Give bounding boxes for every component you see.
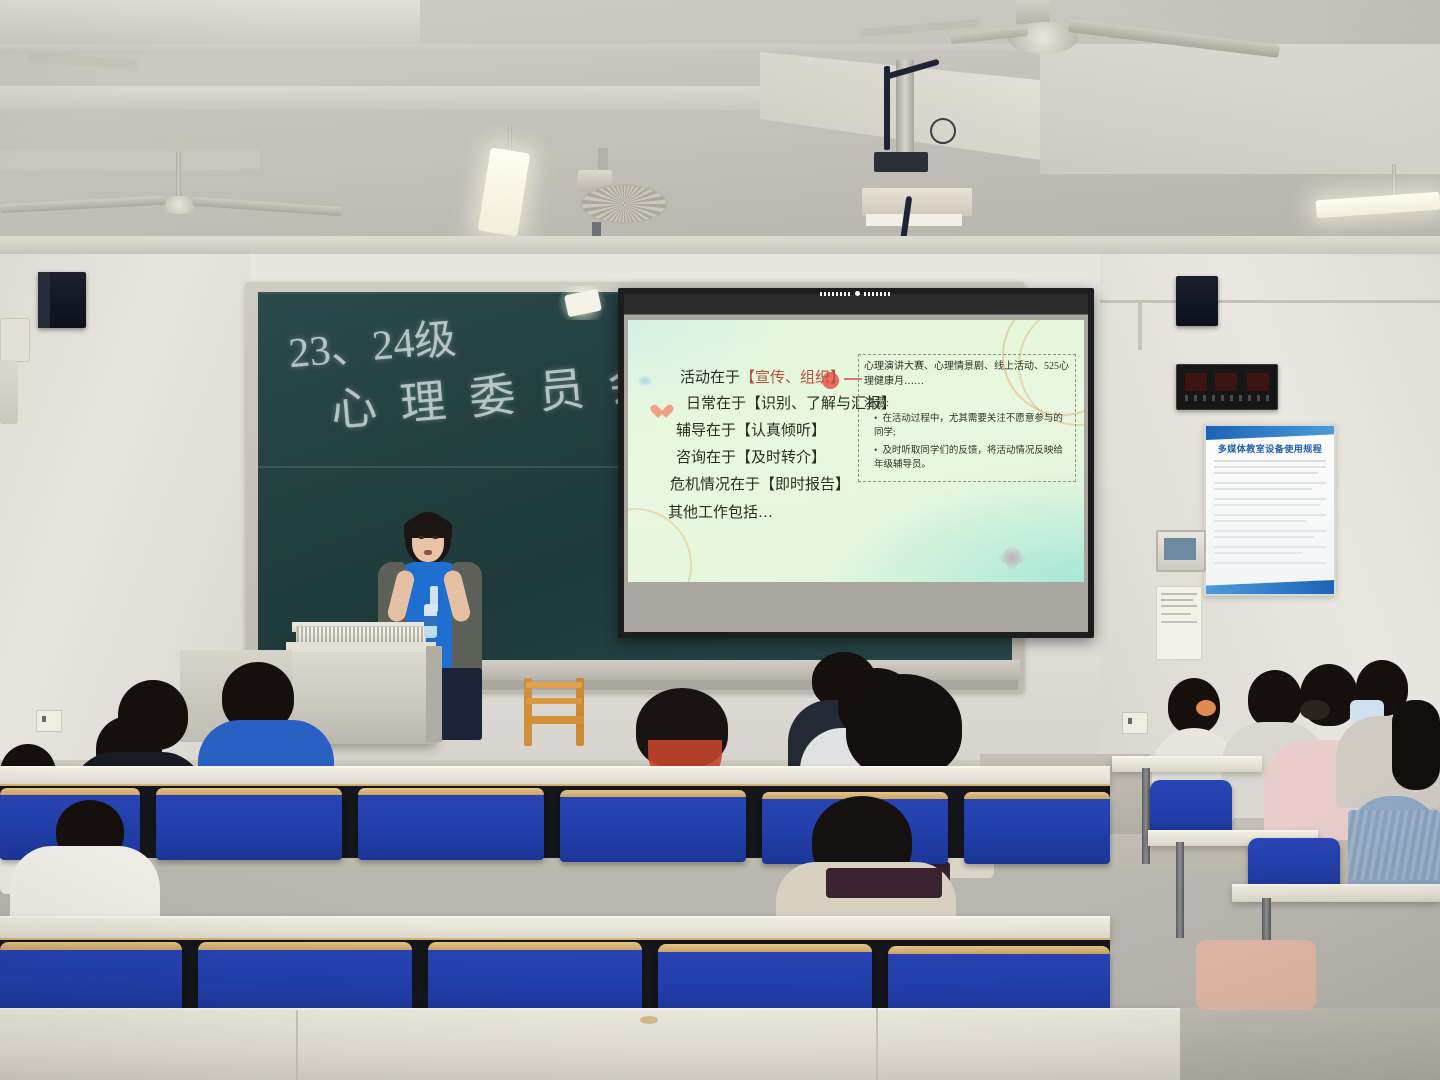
slide-note-item-2: •及时听取同学们的反馈，将活动情况反映给年级辅导员。 <box>874 444 1070 473</box>
slide-note-item-1-text: 在活动过程中，尤其需要关注不愿意参与的同学; <box>874 414 1063 438</box>
slide-bullet-1: 活动在于【宣传、组织】 <box>680 366 845 387</box>
slide-bullet-5: 危机情况在于【即时报告】 <box>670 473 850 494</box>
clock-digit-3 <box>1247 373 1269 391</box>
wall-notice-line-3 <box>1161 605 1197 607</box>
slide-bullet-4: 咨询在于【及时转介】 <box>676 446 826 467</box>
slide-note-bullet-icon-2: • <box>874 446 877 456</box>
slide-note-label: 注意: <box>864 394 889 410</box>
slide-note-item-2-text: 及时听取同学们的反馈，将活动情况反映给年级辅导员。 <box>874 446 1063 470</box>
wall-conduit-right <box>1100 300 1440 303</box>
screen-marker-dots-left <box>820 292 850 296</box>
wall-notice-line-2 <box>1161 599 1193 601</box>
ceiling-panel-right <box>1040 44 1440 174</box>
chair-r1-3[interactable] <box>358 788 544 860</box>
slide: 活动在于【宣传、组织】 日常在于【识别、了解与汇报】 辅导在于【认真倾听】 咨询… <box>628 320 1084 582</box>
chair-r1-2[interactable] <box>156 788 342 860</box>
slide-decor-dot-blue <box>634 374 656 388</box>
classroom-photo: 23、24级 心 理 委 员 会 活动在于【宣传、组织】 日常在于【识别、了解与… <box>0 0 1440 1080</box>
student-head-b4 <box>846 674 962 778</box>
chair-r1-4[interactable] <box>560 790 746 862</box>
student-print-d2 <box>826 868 942 898</box>
presenter-eye-left <box>419 536 424 539</box>
wall-notice-line-5 <box>1161 621 1197 623</box>
ceiling-duct-left <box>0 150 260 170</box>
chair-r1-6-top <box>964 792 1110 799</box>
slide-bullet-6: 其他工作包括… <box>668 501 773 522</box>
slide-bullet-3-prefix: 辅导在于 <box>676 423 736 439</box>
slide-bullet-5-bracket: 【即时报告】 <box>760 477 850 493</box>
slide-bullet-4-bracket: 【及时转介】 <box>736 450 826 466</box>
podium-right-edge <box>426 646 442 742</box>
slide-heart-icon <box>650 405 666 420</box>
desk-row-front <box>0 1008 1180 1080</box>
poster-text-line-1 <box>1214 460 1326 462</box>
slide-note-intro: 心理演讲大赛、心理情景剧、线上活动、525心理健康月…… <box>864 360 1072 389</box>
poster-text-line-6 <box>1214 498 1326 500</box>
slide-decor-leaf <box>992 540 1032 576</box>
wall-conduit-drop <box>1138 302 1142 350</box>
chair-r1-4-top <box>560 790 746 797</box>
slide-bullet-3: 辅导在于【认真倾听】 <box>676 419 826 440</box>
desk-right-1 <box>1112 756 1262 772</box>
poster-text-line-8 <box>1214 514 1326 516</box>
clock-digit-1 <box>1185 373 1207 391</box>
slide-bullet-6-prefix: 其他工作包括… <box>668 505 773 521</box>
student-head-a3 <box>118 680 188 750</box>
student-body-d1 <box>10 846 160 926</box>
slide-bullet-1-bracket: 【宣传、组织】 <box>740 370 845 386</box>
student-head-c5 <box>1392 700 1440 790</box>
presenter-mouth <box>424 550 432 555</box>
chair-r2-5-top <box>888 946 1110 954</box>
poster-title: 多媒体教室设备使用规程 <box>1212 442 1328 455</box>
student-denim-c5 <box>1348 810 1440 880</box>
chair-r2-1-top <box>0 942 182 950</box>
wooden-chair-slat-2 <box>526 698 582 704</box>
student-hairtie-c3 <box>1300 700 1330 720</box>
desk-leg-right-2 <box>1176 842 1184 938</box>
chair-r2-3-top <box>428 942 642 950</box>
student-hairtie-c1 <box>1196 700 1216 716</box>
slide-bullet-5-prefix: 危机情况在于 <box>670 477 760 493</box>
equipment-rules-poster: 多媒体教室设备使用规程 <box>1204 424 1336 596</box>
chair-r1-6[interactable] <box>964 792 1110 864</box>
clock-digit-2 <box>1215 373 1237 391</box>
wooden-chair-slat-1 <box>526 682 582 688</box>
wooden-chair-seat-rail <box>524 716 584 724</box>
desk-front-grommet <box>640 1016 658 1024</box>
wall-speaker-side <box>38 272 50 328</box>
chair-right-1[interactable] <box>1150 780 1232 836</box>
poster-text-line-4 <box>1214 482 1326 484</box>
ceiling-fan-mount-left <box>170 136 186 152</box>
poster-text-line-11 <box>1214 536 1314 538</box>
wall-control-panel-screen <box>1164 538 1196 560</box>
chair-r1-3-top <box>358 788 544 795</box>
screen-marker-dots-right <box>864 292 892 296</box>
tube-light-rod-1 <box>1392 164 1396 198</box>
slide-note-bullet-icon-1: • <box>874 414 877 424</box>
wall-speaker-right <box>1176 276 1218 326</box>
ceiling-fan-mount-right <box>1016 0 1050 24</box>
projector-lens-housing <box>866 214 962 226</box>
floor-front-right <box>1180 1008 1440 1080</box>
socket-slot-left-1 <box>42 716 46 722</box>
poster-header-band <box>1206 426 1334 440</box>
poster-text-line-2 <box>1214 466 1326 468</box>
wall-notice-line-4 <box>1161 613 1191 615</box>
poster-text-line-3 <box>1214 472 1318 474</box>
power-socket-left[interactable] <box>36 710 62 732</box>
slide-bullet-4-prefix: 咨询在于 <box>676 450 736 466</box>
slide-note-item-1: •在活动过程中，尤其需要关注不愿意参与的同学; <box>874 412 1070 441</box>
desk-front-seam-2 <box>876 1008 878 1080</box>
wall-conduit-left <box>0 250 250 254</box>
poster-text-line-14 <box>1214 562 1326 564</box>
poster-text-line-5 <box>1214 488 1312 490</box>
podium-lip <box>286 642 436 652</box>
chair-r1-2-top <box>156 788 342 795</box>
wall-cable-coil <box>0 360 18 424</box>
presenter-trousers <box>440 668 482 740</box>
student-bag-front-right <box>1196 940 1316 1010</box>
wall-notice-line-1 <box>1161 593 1197 595</box>
poster-text-line-9 <box>1214 520 1306 522</box>
poster-footer-band <box>1206 580 1334 594</box>
wall-control-panel[interactable] <box>1156 530 1206 572</box>
wall-notice-small <box>1156 586 1202 660</box>
presenter-eye-right <box>433 536 438 539</box>
socket-slot-right-1 <box>1128 718 1132 724</box>
slide-bullet-3-bracket: 【认真倾听】 <box>736 423 826 439</box>
ceiling-soffit-left <box>0 0 420 46</box>
desk-front-seam-1 <box>296 1010 298 1080</box>
poster-text-line-12 <box>1214 546 1326 548</box>
slide-bullet-2-prefix: 日常在于 <box>686 396 746 412</box>
projector <box>862 188 972 216</box>
chair-r1-1-top <box>0 788 140 795</box>
chair-r2-2-top <box>198 942 412 950</box>
wall-box-left <box>0 318 30 362</box>
led-clock <box>1176 364 1278 410</box>
desk-leg-right-1 <box>1142 768 1150 864</box>
wall-fan-cage <box>580 184 668 224</box>
ceiling-cable-loop <box>930 118 956 144</box>
poster-text-line-10 <box>1214 530 1326 532</box>
slide-bullet-1-prefix: 活动在于 <box>680 370 740 386</box>
water-bottle-label <box>424 616 437 626</box>
clock-label-strip <box>1185 395 1269 401</box>
presenter-hair-top <box>404 516 452 538</box>
wooden-chair-leg-left <box>524 678 532 746</box>
screen-marker-dot-center <box>855 291 860 296</box>
poster-text-line-13 <box>1214 552 1302 554</box>
poster-text-line-7 <box>1214 504 1320 506</box>
chair-r2-4-top <box>658 944 872 952</box>
wooden-chair-leg-right <box>576 678 584 746</box>
projector-bracket <box>874 152 928 172</box>
power-socket-right[interactable] <box>1122 712 1148 734</box>
